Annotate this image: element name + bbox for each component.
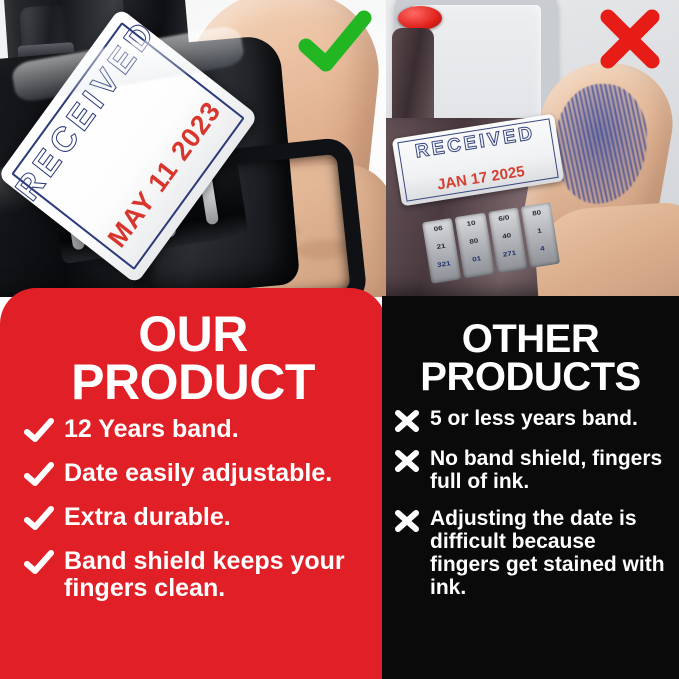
other-products-drawback-list: 5 or less years band. No band shield, fi… <box>390 407 671 600</box>
cross-badge <box>596 6 664 72</box>
list-item: 12 Years band. <box>14 416 372 444</box>
red-button <box>398 6 442 30</box>
blue-ink-fingerprint <box>553 82 649 205</box>
benefit-text: 12 Years band. <box>64 416 239 443</box>
cross-icon <box>394 409 420 433</box>
benefit-text: Date easily adjustable. <box>64 460 332 487</box>
check-icon <box>24 550 54 576</box>
other-products-panel: OTHER PRODUCTS 5 or less years band. No … <box>382 296 679 679</box>
check-icon <box>24 418 54 444</box>
benefit-text: Extra durable. <box>64 504 231 531</box>
title-line-2: PRODUCTS <box>390 358 671 396</box>
other-products-title: OTHER PRODUCTS <box>390 312 671 397</box>
list-item: Date easily adjustable. <box>14 460 372 488</box>
drawback-text: 5 or less years band. <box>430 407 638 430</box>
check-icon <box>24 506 54 532</box>
list-item: No band shield, fingers full of ink. <box>390 447 671 493</box>
list-item: Band shield keeps your fingers clean. <box>14 548 372 602</box>
benefit-text: Band shield keeps your fingers clean. <box>64 548 372 602</box>
title-line-1: OTHER <box>390 320 671 358</box>
photo-row: RECEIVED MAY 11 2023 0621321 108001 6/04… <box>0 0 679 297</box>
cross-icon <box>394 509 420 533</box>
panel-row: OUR PRODUCT 12 Years band. Date easily a… <box>0 288 679 679</box>
our-product-benefit-list: 12 Years band. Date easily adjustable. E… <box>14 416 372 602</box>
cross-icon <box>394 449 420 473</box>
our-product-title: OUR PRODUCT <box>14 306 372 406</box>
drawback-text: Adjusting the date is difficult because … <box>430 507 671 599</box>
list-item: 5 or less years band. <box>390 407 671 433</box>
comparison-infographic: RECEIVED MAY 11 2023 0621321 108001 6/04… <box>0 0 679 679</box>
list-item: Extra durable. <box>14 504 372 532</box>
check-icon <box>24 462 54 488</box>
our-product-panel: OUR PRODUCT 12 Years band. Date easily a… <box>0 288 386 679</box>
check-badge <box>296 8 374 78</box>
title-line-2: PRODUCT <box>14 358 372 406</box>
drawback-text: No band shield, fingers full of ink. <box>430 447 671 493</box>
title-line-1: OUR <box>14 310 372 358</box>
list-item: Adjusting the date is difficult because … <box>390 507 671 599</box>
